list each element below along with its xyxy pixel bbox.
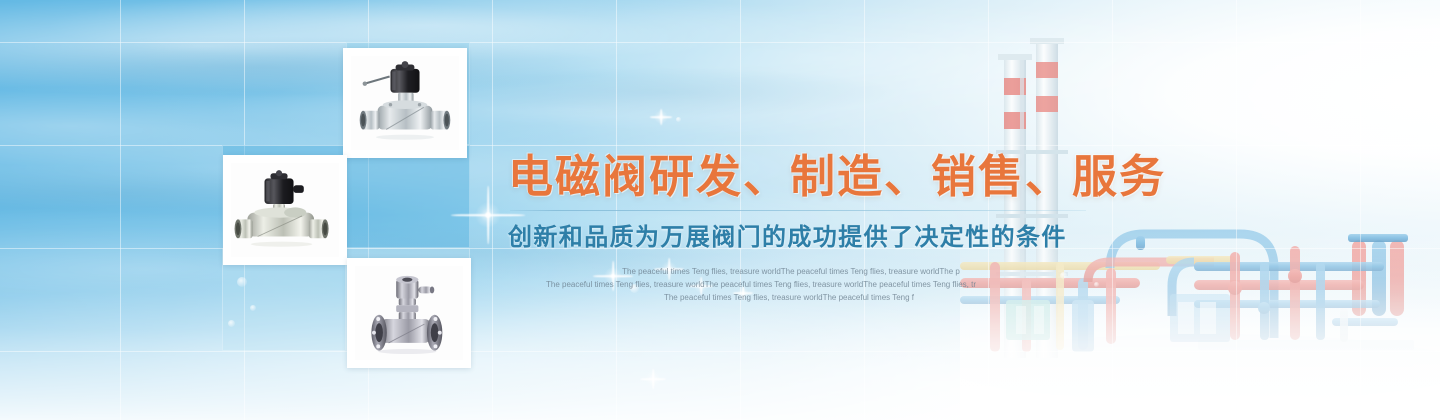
title-divider [510, 210, 1086, 211]
hero-banner: 电磁阀研发、制造、销售、服务 创新和品质为万展阀门的成功提供了决定性的条件 Th… [0, 0, 1440, 420]
product-thumbnail-2[interactable] [223, 155, 347, 265]
banner-copy: 电磁阀研发、制造、销售、服务 创新和品质为万展阀门的成功提供了决定性的条件 Th… [508, 150, 1108, 305]
page-title: 电磁阀研发、制造、销售、服务 [508, 150, 1108, 203]
blurb-line-2: The peaceful times Teng flies, treasure … [484, 279, 1038, 292]
product-image-1 [351, 56, 459, 150]
product-thumbnail-3[interactable] [347, 258, 471, 368]
banner-blurb: The peaceful times Teng flies, treasure … [518, 266, 1038, 305]
page-subtitle: 创新和品质为万展阀门的成功提供了决定性的条件 [508, 217, 1108, 252]
blurb-line-3: The peaceful times Teng flies, treasure … [540, 292, 1038, 305]
product-image-3 [355, 266, 463, 360]
product-thumbnail-1[interactable] [343, 48, 467, 158]
tile-block-2 [346, 145, 470, 248]
blurb-line-1: The peaceful times Teng flies, treasure … [544, 266, 1038, 279]
product-image-2 [231, 163, 339, 257]
